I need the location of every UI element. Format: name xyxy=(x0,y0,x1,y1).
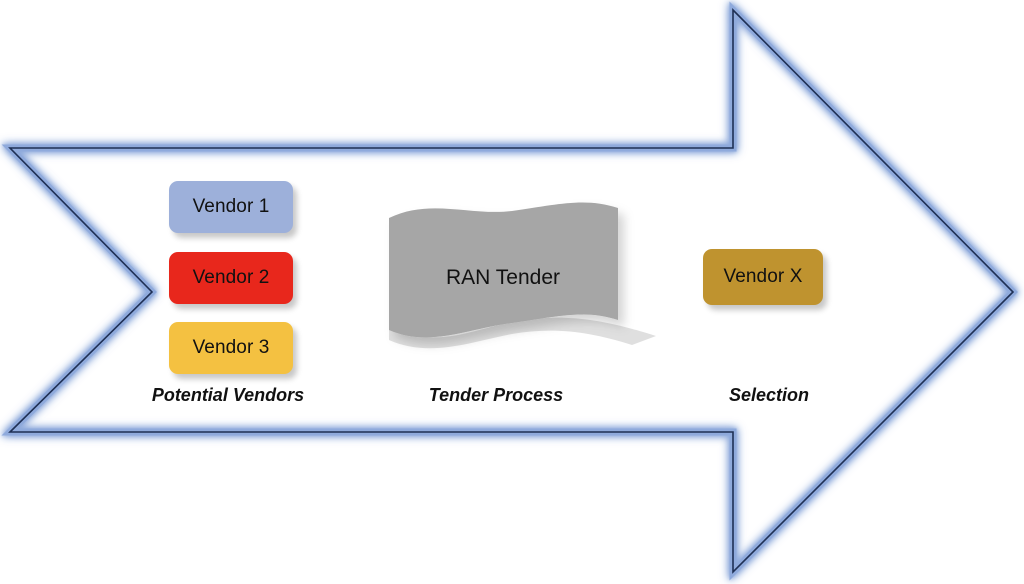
arrow-outline-shape xyxy=(10,10,1013,572)
vendor-box-1[interactable]: Vendor 1 xyxy=(169,181,293,233)
selected-vendor-label: Vendor X xyxy=(724,266,803,288)
vendor-box-3-label: Vendor 3 xyxy=(193,337,270,359)
stage-label-potential-vendors: Potential Vendors xyxy=(128,385,328,406)
stage-label-tender-process: Tender Process xyxy=(396,385,596,406)
process-arrow xyxy=(0,0,1024,584)
diagram-canvas: Vendor 1 Vendor 2 Vendor 3 RAN Tender Ve… xyxy=(0,0,1024,584)
vendor-box-1-label: Vendor 1 xyxy=(193,196,270,218)
selected-vendor-box[interactable]: Vendor X xyxy=(703,249,823,305)
stage-label-selection: Selection xyxy=(669,385,869,406)
vendor-box-3[interactable]: Vendor 3 xyxy=(169,322,293,374)
vendor-box-2-label: Vendor 2 xyxy=(193,267,270,289)
vendor-box-2[interactable]: Vendor 2 xyxy=(169,252,293,304)
tender-banner-label: RAN Tender xyxy=(403,266,603,290)
arrow-outline-stroke xyxy=(10,10,1013,572)
